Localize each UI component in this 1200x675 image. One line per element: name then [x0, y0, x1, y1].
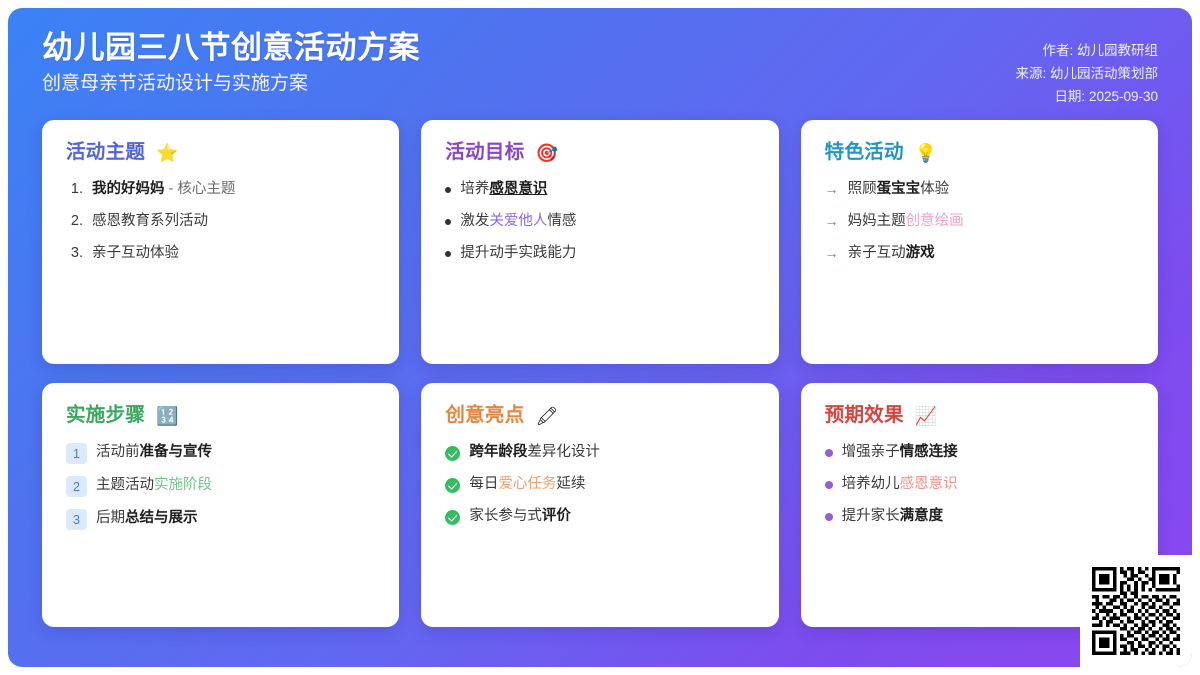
- list-item: 2.感恩教育系列活动: [66, 212, 375, 232]
- text-segment: 我的好妈妈: [92, 181, 165, 197]
- text-segment: 亲子互动: [848, 245, 906, 261]
- list-item-text: 活动前准备与宣传: [96, 443, 375, 463]
- card-item-list: 1.我的好妈妈 - 核心主题2.感恩教育系列活动3.亲子互动体验: [66, 180, 375, 263]
- card-item-list: 培养感恩意识激发关爱他人情感提升动手实践能力: [445, 180, 754, 263]
- text-segment: 蛋宝宝: [877, 181, 921, 197]
- list-item-text: 培养幼儿感恩意识: [842, 475, 1134, 495]
- target-icon: 🎯: [536, 144, 558, 162]
- card-header: 活动目标🎯: [445, 142, 754, 163]
- list-number: 2.: [66, 212, 83, 232]
- bullet-dot-icon: [825, 449, 833, 457]
- list-item-text: 感恩教育系列活动: [92, 212, 375, 232]
- text-segment: 妈妈主题: [848, 213, 906, 229]
- text-segment: 感恩意识: [900, 476, 958, 492]
- card-title: 实施步骤: [66, 405, 145, 426]
- list-item-text: 跨年龄段差异化设计: [469, 443, 754, 463]
- step-number-badge: 2: [66, 476, 87, 497]
- card-title: 特色活动: [825, 142, 904, 163]
- check-circle-icon: [445, 478, 460, 493]
- card-header: 预期效果📈: [825, 405, 1134, 426]
- list-item-text: 妈妈主题创意绘画: [848, 212, 1134, 232]
- list-item: →照顾蛋宝宝体验: [825, 180, 1134, 200]
- text-segment: 满意度: [900, 508, 944, 524]
- poster-canvas: 幼儿园三八节创意活动方案 创意母亲节活动设计与实施方案 作者: 幼儿园教研组 来…: [8, 8, 1192, 667]
- text-segment: 培养幼儿: [842, 476, 900, 492]
- card-item-list: →照顾蛋宝宝体验→妈妈主题创意绘画→亲子互动游戏: [825, 180, 1134, 263]
- list-item-text: 每日爱心任务延续: [469, 475, 754, 495]
- text-segment: 后期: [96, 510, 125, 526]
- numbered-list-icon: 🔢: [156, 407, 178, 425]
- card-featured-activity: 特色活动💡→照顾蛋宝宝体验→妈妈主题创意绘画→亲子互动游戏: [801, 120, 1158, 364]
- list-item-text: 主题活动实施阶段: [96, 476, 375, 496]
- list-item: 3.亲子互动体验: [66, 244, 375, 264]
- text-segment: 跨年龄段: [469, 444, 527, 460]
- poster-header: 幼儿园三八节创意活动方案 创意母亲节活动设计与实施方案 作者: 幼儿园教研组 来…: [8, 8, 1192, 120]
- chart-increasing-icon: 📈: [915, 407, 937, 425]
- text-segment: 提升家长: [842, 508, 900, 524]
- arrow-right-icon: →: [825, 244, 839, 263]
- text-segment: 情感连接: [900, 444, 958, 460]
- card-activity-goal: 活动目标🎯培养感恩意识激发关爱他人情感提升动手实践能力: [421, 120, 778, 364]
- card-creative-highlights: 创意亮点🖍跨年龄段差异化设计每日爱心任务延续家长参与式评价: [421, 383, 778, 627]
- star-icon: ⭐: [156, 144, 178, 162]
- poster-root: 幼儿园三八节创意活动方案 创意母亲节活动设计与实施方案 作者: 幼儿园教研组 来…: [0, 0, 1200, 675]
- card-item-list: 跨年龄段差异化设计每日爱心任务延续家长参与式评价: [445, 443, 754, 526]
- text-segment: 情感: [547, 213, 576, 229]
- text-segment: - 核心主题: [165, 181, 236, 197]
- meta-date: 日期: 2025-09-30: [1054, 88, 1158, 106]
- text-segment: 激发: [460, 213, 489, 229]
- list-number: 3.: [66, 244, 83, 264]
- text-segment: 感恩教育系列活动: [92, 213, 208, 229]
- step-number-badge: 1: [66, 443, 87, 464]
- card-title: 活动主题: [66, 142, 145, 163]
- meta-source: 来源: 幼儿园活动策划部: [1015, 65, 1158, 83]
- card-header: 实施步骤🔢: [66, 405, 375, 426]
- text-segment: 爱心任务: [498, 476, 556, 492]
- list-item-text: 后期总结与展示: [96, 509, 375, 529]
- list-item: 每日爱心任务延续: [445, 475, 754, 495]
- card-title: 预期效果: [825, 405, 904, 426]
- list-item: 1.我的好妈妈 - 核心主题: [66, 180, 375, 200]
- card-header: 特色活动💡: [825, 142, 1134, 163]
- list-item: 跨年龄段差异化设计: [445, 443, 754, 463]
- card-activity-theme: 活动主题⭐1.我的好妈妈 - 核心主题2.感恩教育系列活动3.亲子互动体验: [42, 120, 399, 364]
- arrow-right-icon: →: [825, 212, 839, 231]
- qr-panel: [1080, 555, 1192, 667]
- card-implementation-steps: 实施步骤🔢1活动前准备与宣传2主题活动实施阶段3后期总结与展示: [42, 383, 399, 627]
- list-item-text: 培养感恩意识: [460, 180, 754, 200]
- text-segment: 游戏: [906, 245, 935, 261]
- card-item-list: 1活动前准备与宣传2主题活动实施阶段3后期总结与展示: [66, 443, 375, 530]
- text-segment: 增强亲子: [842, 444, 900, 460]
- list-item-text: 亲子互动游戏: [848, 244, 1134, 264]
- text-segment: 照顾: [848, 181, 877, 197]
- arrow-right-icon: →: [825, 180, 839, 199]
- text-segment: 总结与展示: [125, 510, 198, 526]
- list-item: 增强亲子情感连接: [825, 443, 1134, 463]
- crayon-icon: 🖍: [536, 407, 559, 425]
- bullet-dot-icon: [825, 513, 833, 521]
- text-segment: 活动前: [96, 444, 140, 460]
- text-segment: 培养: [460, 181, 489, 197]
- list-item: →亲子互动游戏: [825, 244, 1134, 264]
- page-subtitle: 创意母亲节活动设计与实施方案: [42, 73, 420, 96]
- list-item: 培养感恩意识: [445, 180, 754, 200]
- list-item-text: 提升家长满意度: [842, 507, 1134, 527]
- text-segment: 亲子互动体验: [92, 245, 179, 261]
- list-item-text: 提升动手实践能力: [460, 244, 754, 264]
- text-segment: 差异化设计: [527, 444, 600, 460]
- meta-author: 作者: 幼儿园教研组: [1042, 42, 1158, 60]
- text-segment: 评价: [542, 508, 571, 524]
- list-item: 培养幼儿感恩意识: [825, 475, 1134, 495]
- header-meta-group: 作者: 幼儿园教研组 来源: 幼儿园活动策划部 日期: 2025-09-30: [1015, 30, 1158, 107]
- card-header: 活动主题⭐: [66, 142, 375, 163]
- list-item-text: 增强亲子情感连接: [842, 443, 1134, 463]
- list-number: 1.: [66, 180, 83, 200]
- bullet-dot-icon: [445, 219, 451, 225]
- text-segment: 准备与宣传: [140, 444, 213, 460]
- text-segment: 家长参与式: [469, 508, 542, 524]
- bullet-dot-icon: [825, 481, 833, 489]
- text-segment: 每日: [469, 476, 498, 492]
- lightbulb-icon: 💡: [915, 144, 937, 162]
- list-item: 2主题活动实施阶段: [66, 476, 375, 497]
- header-title-group: 幼儿园三八节创意活动方案 创意母亲节活动设计与实施方案: [42, 30, 420, 95]
- check-circle-icon: [445, 446, 460, 461]
- text-segment: 体验: [920, 181, 949, 197]
- card-grid: 活动主题⭐1.我的好妈妈 - 核心主题2.感恩教育系列活动3.亲子互动体验活动目…: [8, 120, 1192, 627]
- card-item-list: 增强亲子情感连接培养幼儿感恩意识提升家长满意度: [825, 443, 1134, 526]
- list-item-text: 我的好妈妈 - 核心主题: [92, 180, 375, 200]
- page-title: 幼儿园三八节创意活动方案: [42, 30, 420, 66]
- list-item: 提升家长满意度: [825, 507, 1134, 527]
- text-segment: 主题活动: [96, 477, 154, 493]
- card-title: 活动目标: [445, 142, 524, 163]
- text-segment: 提升动手实践能力: [460, 245, 576, 261]
- check-circle-icon: [445, 510, 460, 525]
- card-title: 创意亮点: [445, 405, 524, 426]
- list-item: 3后期总结与展示: [66, 509, 375, 530]
- list-item: 激发关爱他人情感: [445, 212, 754, 232]
- text-segment: 关爱他人: [489, 213, 547, 229]
- card-header: 创意亮点🖍: [445, 405, 754, 426]
- text-segment: 感恩意识: [489, 181, 547, 197]
- qr-code[interactable]: [1092, 567, 1180, 655]
- bullet-dot-icon: [445, 187, 451, 193]
- list-item: →妈妈主题创意绘画: [825, 212, 1134, 232]
- list-item: 家长参与式评价: [445, 507, 754, 527]
- text-segment: 创意绘画: [906, 213, 964, 229]
- list-item: 1活动前准备与宣传: [66, 443, 375, 464]
- list-item-text: 亲子互动体验: [92, 244, 375, 264]
- list-item-text: 激发关爱他人情感: [460, 212, 754, 232]
- bullet-dot-icon: [445, 251, 451, 257]
- list-item-text: 家长参与式评价: [469, 507, 754, 527]
- text-segment: 延续: [556, 476, 585, 492]
- text-segment: 实施阶段: [154, 477, 212, 493]
- list-item: 提升动手实践能力: [445, 244, 754, 264]
- step-number-badge: 3: [66, 509, 87, 530]
- list-item-text: 照顾蛋宝宝体验: [848, 180, 1134, 200]
